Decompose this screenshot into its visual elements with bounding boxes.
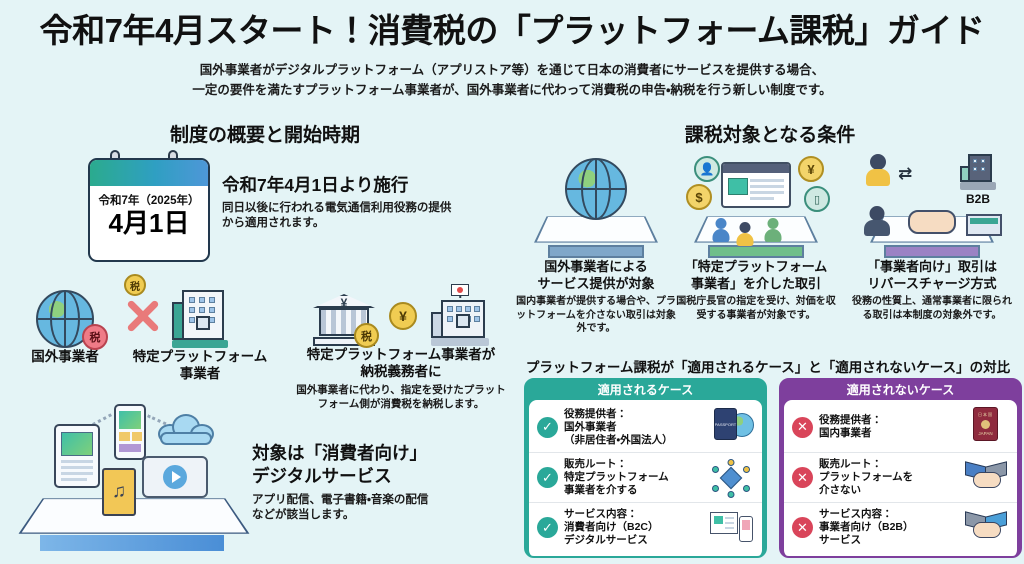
monitor-phone-icon [708,508,754,548]
globe-platform-icon [516,150,676,258]
flow-item-platform-business: 特定プラットフォーム事業者 [130,272,270,382]
comparison-applied-header: 適用されるケース [526,380,765,400]
person-icon-businessman [864,206,890,236]
exchange-arrows-icon: ⇄ [898,164,912,184]
passport-globe-icon: PASSPORT [708,407,754,447]
enforcement-desc: 同日以後に行われる電気通信利用役務の提供 から適用されます。 [222,201,452,231]
flow-item-taxpayer: ¥ 税 ¥ 特定プラッ [276,270,526,411]
row-line-2: 消費者向け（B2C） [564,521,702,534]
row-line-1: サービス内容： [819,508,957,521]
row-line-1: 販売ルート： [564,458,702,471]
row-line-3: 事業者を介する [564,484,702,497]
check-icon: ✓ [537,517,558,538]
digital-desc-line-1: アプリ配信、電子書籍・音楽の配信 [252,493,502,508]
row-line-1: 販売ルート： [819,458,957,471]
iso-platform-side [548,245,644,258]
tablet-icon [54,424,100,488]
flow-sub-taxpayer: 国外事業者に代わり、指定を受けたプラットフォーム側が消費税を納税します。 [276,383,526,411]
condition-title-line-1: 国外事業者による [516,258,676,275]
row-line-2: プラットフォームを [819,471,957,484]
comparison-row: ✕ 販売ルート： プラットフォームを 介さない [784,452,1017,502]
calendar-date: 4月1日 [90,208,208,238]
comparison-row-text: 役務提供者： 国外事業者 （非居住者・外国法人） [564,408,702,447]
dollar-coin-icon: $ [686,184,712,210]
browser-window-icon [721,162,791,208]
music-book-icon [102,468,136,516]
office-building-icon [130,272,270,348]
digital-desc-line-2: などが該当します。 [252,508,502,523]
iso-platform-side [708,245,804,258]
store-building-icon [966,214,1002,236]
cross-icon: ✕ [792,517,813,538]
flow-label-platform-business: 特定プラットフォーム事業者 [130,348,270,382]
digital-title-line-2: デジタルサービス [252,465,502,488]
globe-icon [565,158,627,220]
right-section-heading: 課税対象となる条件 [580,120,960,147]
cloud-icon [154,412,216,446]
iso-platform [534,216,658,242]
credit-card-icon: ▯ [804,186,830,212]
digital-title-line-1: 対象は「消費者向け」 [252,442,502,465]
calendar-header-band [90,160,208,186]
calendar-icon: 令和7年（2025年） 4月1日 [88,158,210,262]
taxpayer-icon-group: ¥ 税 ¥ [276,270,526,346]
person-icon-green [764,218,781,242]
condition-title: 「特定プラットフォーム 事業者」を介した取引 [676,258,836,292]
flow-label-foreign-business: 国外事業者 [10,348,120,365]
comparison-heading: プラットフォーム課税が「適用されるケース」と「適用されないケース」の対比 [512,356,1024,376]
enforcement-desc-line-2: から適用されます。 [222,216,452,231]
comparison-applied-body: ✓ 役務提供者： 国外事業者 （非居住者・外国法人） PASSPORT ✓ 販売… [529,400,762,558]
smartphone-icon [114,404,146,460]
comparison-row-text: 販売ルート： 特定プラットフォーム 事業者を介する [564,458,702,497]
condition-desc: 国税庁長官の指定を受け、対価を収受する事業者が対象です。 [676,295,836,322]
comparison-row: ✕ サービス内容： 事業者向け（B2B） サービス [784,502,1017,552]
infographic-root: 令和7年4月スタート！消費税の「プラットフォーム課税」ガイド 国外事業者がデジタ… [0,0,1024,564]
comparison-row: ✓ 役務提供者： 国外事業者 （非居住者・外国法人） PASSPORT [529,402,762,452]
row-line-1: サービス内容： [564,508,702,521]
subtitle-line-1: 国外事業者がデジタルプラットフォーム（アプリストア等）を通じて日本の消費者にサー… [0,60,1024,80]
digital-services-text: 対象は「消費者向け」 デジタルサービス アプリ配信、電子書籍・音楽の配信 などが… [252,442,502,523]
b2b-handshake-icon: ⇄ B2B [852,150,1012,258]
comparison-not-applied-header: 適用されないケース [781,380,1020,400]
iso-platform-edge [40,535,224,551]
tax-badge-gold: 税 [354,323,379,348]
digital-services-title: 対象は「消費者向け」 デジタルサービス [252,442,502,488]
globe-tax-icon: 税 [10,272,120,348]
left-section-heading: 制度の概要と開始時期 [100,120,430,147]
condition-card-specified-platform: $ 👤 ¥ ▯ 「特定プラットフォーム 事業者」を介した取引 国税庁長官の指定を… [676,150,836,322]
row-line-1: 役務提供者： [564,408,702,421]
comparison-row-text: 販売ルート： プラットフォームを 介さない [819,458,957,497]
check-icon: ✓ [537,467,558,488]
flow-label-taxpayer: 特定プラットフォーム事業者が納税義務者に [276,346,526,380]
enforcement-desc-line-1: 同日以後に行われる電気通信利用役務の提供 [222,201,452,216]
calendar-body: 令和7年（2025年） 4月1日 [88,158,210,262]
digital-services-illustration [22,398,244,553]
condition-title-line-1: 「特定プラットフォーム [676,258,836,275]
row-line-2: 国内事業者 [819,427,957,440]
row-line-2: 事業者向け（B2B） [819,521,957,534]
condition-title-line-2: リバースチャージ方式 [852,275,1012,292]
page-subtitle: 国外事業者がデジタルプラットフォーム（アプリストア等）を通じて日本の消費者にサー… [0,60,1024,100]
digital-services-desc: アプリ配信、電子書籍・音楽の配信 などが該当します。 [252,493,502,523]
comparison-card-applied: 適用されるケース ✓ 役務提供者： 国外事業者 （非居住者・外国法人） PASS… [524,378,767,558]
row-line-1: 役務提供者： [819,414,957,427]
condition-title-line-1: 「事業者向け」取引は [852,258,1012,275]
handshake-icon [908,210,956,234]
marketplace-platform-icon: $ 👤 ¥ ▯ [676,150,836,258]
condition-card-foreign-provider: 国外事業者による サービス提供が対象 国内事業者が提供する場合や、プラットフォー… [516,150,676,336]
yen-coin-icon: ¥ [389,302,417,330]
yen-coin-icon: ¥ [798,156,824,182]
row-line-3: サービス [819,534,957,547]
row-line-3: （非居住者・外国法人） [564,434,702,447]
check-icon: ✓ [537,417,558,438]
comparison-not-applied-body: ✕ 役務提供者： 国内事業者 日本国JAPAN ✕ 販売ルート： プラットフォー… [784,400,1017,558]
person-icon-yellow [736,222,753,246]
calendar-year: 令和7年（2025年） [90,192,208,208]
condition-title: 国外事業者による サービス提供が対象 [516,258,676,292]
row-line-2: 国外事業者 [564,421,702,434]
comparison-row-text: サービス内容： 事業者向け（B2B） サービス [819,508,957,547]
bank-icon: ¥ 税 [313,288,375,346]
office-building-icon [960,152,996,190]
condition-title-line-2: サービス提供が対象 [516,275,676,292]
iso-platform-side [884,245,980,258]
japan-passport-icon: 日本国JAPAN [963,407,1009,447]
condition-title-line-2: 事業者」を介した取引 [676,275,836,292]
japan-building-icon [431,284,489,346]
person-icon-woman [866,154,890,186]
row-line-2: 特定プラットフォーム [564,471,702,484]
enforcement-block: 令和7年4月1日より施行 同日以後に行われる電気通信利用役務の提供 から適用され… [222,172,452,231]
row-line-3: デジタルサービス [564,534,702,547]
handshake-icon [963,508,1009,548]
comparison-row-text: 役務提供者： 国内事業者 [819,414,957,440]
comparison-card-not-applied: 適用されないケース ✕ 役務提供者： 国内事業者 日本国JAPAN ✕ 販売ルー… [779,378,1022,558]
b2b-badge: B2B [966,192,990,206]
condition-card-b2b-reverse-charge: ⇄ B2B 「事業者向け」取引は [852,150,1012,322]
comparison-row-text: サービス内容： 消費者向け（B2C） デジタルサービス [564,508,702,547]
comparison-row: ✓ 販売ルート： 特定プラットフォーム 事業者を介する [529,452,762,502]
condition-desc: 役務の性質上、通常事業者に限られる取引は本制度の対象外です。 [852,295,1012,322]
flow-item-foreign-business: 税 国外事業者 [10,272,120,365]
user-badge-icon: 👤 [694,156,720,182]
network-node-icon [708,458,754,498]
condition-title: 「事業者向け」取引は リバースチャージ方式 [852,258,1012,292]
person-icon-blue [712,218,729,242]
comparison-row: ✓ サービス内容： 消費者向け（B2C） デジタルサービス [529,502,762,552]
cross-icon: ✕ [792,467,813,488]
subtitle-line-2: 一定の要件を満たすプラットフォーム事業者が、国外事業者に代わって消費税の申告・納… [0,80,1024,100]
cross-icon: ✕ [792,417,813,438]
video-player-icon [142,456,208,498]
condition-desc: 国内事業者が提供する場合や、プラットフォームを介さない取引は対象外です。 [516,295,676,336]
building-shape [172,288,228,348]
row-line-3: 介さない [819,484,957,497]
enforcement-title: 令和7年4月1日より施行 [222,172,452,197]
page-title: 令和7年4月スタート！消費税の「プラットフォーム課税」ガイド [0,4,1024,52]
comparison-row: ✕ 役務提供者： 国内事業者 日本国JAPAN [784,402,1017,452]
handshake-icon [963,458,1009,498]
tax-badge-red: 税 [82,324,108,350]
